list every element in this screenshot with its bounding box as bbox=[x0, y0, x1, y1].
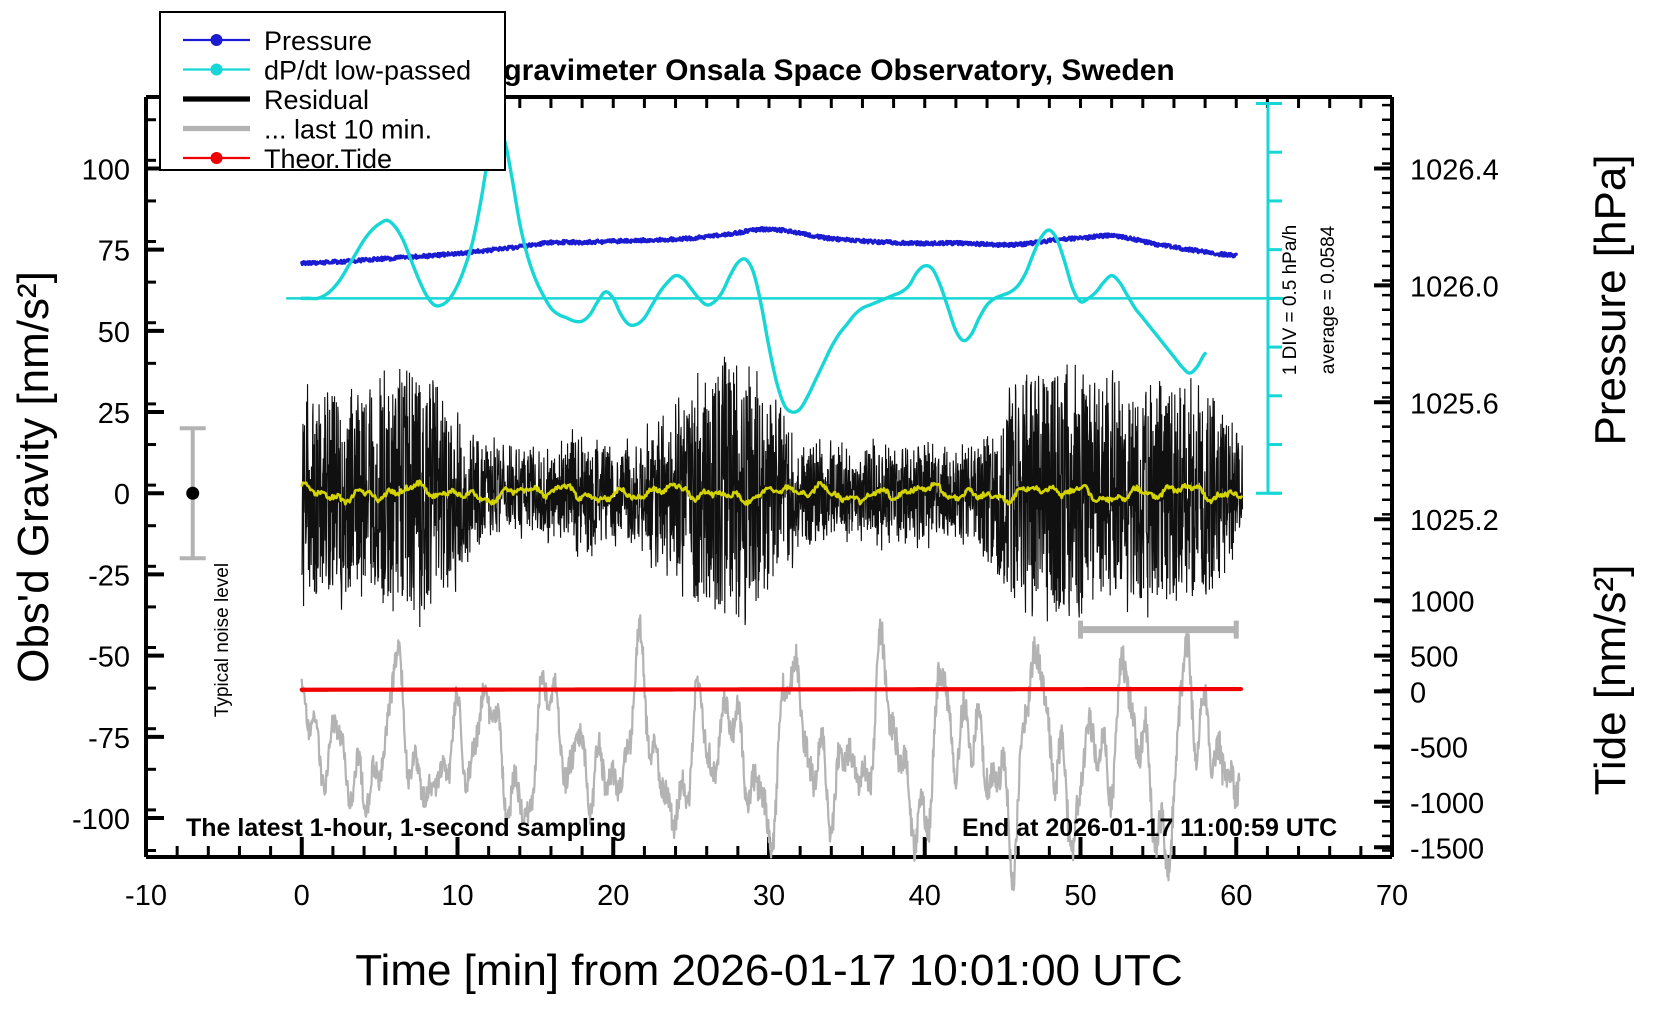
x-tick-label: 0 bbox=[294, 880, 310, 912]
x-tick-label: 20 bbox=[597, 880, 629, 912]
footer-left-label: The latest 1-hour, 1-second sampling bbox=[186, 814, 626, 842]
y-tick-label: -50 bbox=[88, 642, 130, 674]
x-axis-title: Time [min] from 2026-01-17 10:01:00 UTC bbox=[355, 946, 1182, 995]
tide-tick-label: -500 bbox=[1410, 733, 1468, 765]
noise-level-note: Typical noise level bbox=[212, 563, 233, 717]
x-tick-label: 30 bbox=[753, 880, 785, 912]
legend-label: ... last 10 min. bbox=[264, 115, 432, 145]
pressure-tick-label: 1026.4 bbox=[1410, 154, 1499, 186]
pressure-tick-label: 1026.0 bbox=[1410, 271, 1499, 303]
tide-tick-label: 500 bbox=[1410, 642, 1458, 674]
average-note: average = 0.0584 bbox=[1318, 225, 1339, 374]
x-tick-label: 40 bbox=[909, 880, 941, 912]
legend-label: dP/dt low-passed bbox=[264, 56, 471, 86]
legend-marker bbox=[211, 152, 223, 164]
y-tick-label: 0 bbox=[114, 479, 130, 511]
plot-root: 1007550250-25-50-75-100 -100102030405060… bbox=[0, 0, 1660, 1020]
legend-marker bbox=[211, 64, 223, 76]
x-tick-label: 70 bbox=[1376, 880, 1408, 912]
legend-marker bbox=[211, 34, 223, 46]
x-tick-label: -10 bbox=[125, 880, 167, 912]
y-tick-label: 100 bbox=[82, 154, 130, 186]
x-tick-label: 50 bbox=[1064, 880, 1096, 912]
legend: PressuredP/dt low-passedResidual... last… bbox=[160, 12, 505, 174]
pressure-tick-label: 1025.6 bbox=[1410, 388, 1499, 420]
legend-label: Pressure bbox=[264, 26, 372, 56]
x-tick-label: 10 bbox=[441, 880, 473, 912]
div-scale-note: 1 DIV = 0.5 hPa/h bbox=[1280, 225, 1301, 376]
y-tick-label: -75 bbox=[88, 723, 130, 755]
legend-label: Residual bbox=[264, 85, 369, 115]
tide-tick-label: -1500 bbox=[1410, 833, 1484, 865]
noise-bar-center-dot bbox=[186, 487, 199, 500]
y-axis-pressure-title: Pressure [hPa] bbox=[1586, 154, 1635, 445]
gravimeter-plot: 1007550250-25-50-75-100 -100102030405060… bbox=[0, 0, 1660, 1020]
tide-tick-label: 0 bbox=[1410, 677, 1426, 709]
tide-tick-label: -1000 bbox=[1410, 788, 1484, 820]
y-axis-title: Obs'd Gravity [nm/s²] bbox=[9, 271, 58, 683]
y-tick-label: -100 bbox=[72, 804, 130, 836]
tide-tick-label: 1000 bbox=[1410, 586, 1475, 618]
y-axis-tide-title: Tide [nm/s²] bbox=[1586, 565, 1635, 796]
theor-tide-series bbox=[302, 689, 1241, 690]
x-tick-label: 60 bbox=[1220, 880, 1252, 912]
y-tick-label: -25 bbox=[88, 560, 130, 592]
y-tick-label: 75 bbox=[98, 236, 130, 268]
y-tick-label: 25 bbox=[98, 398, 130, 430]
y-tick-label: 50 bbox=[98, 317, 130, 349]
legend-label: Theor.Tide bbox=[264, 144, 392, 174]
footer-right-label: End at 2026-01-17 11:00:59 UTC bbox=[962, 814, 1337, 842]
pressure-tick-label: 1025.2 bbox=[1410, 505, 1499, 537]
